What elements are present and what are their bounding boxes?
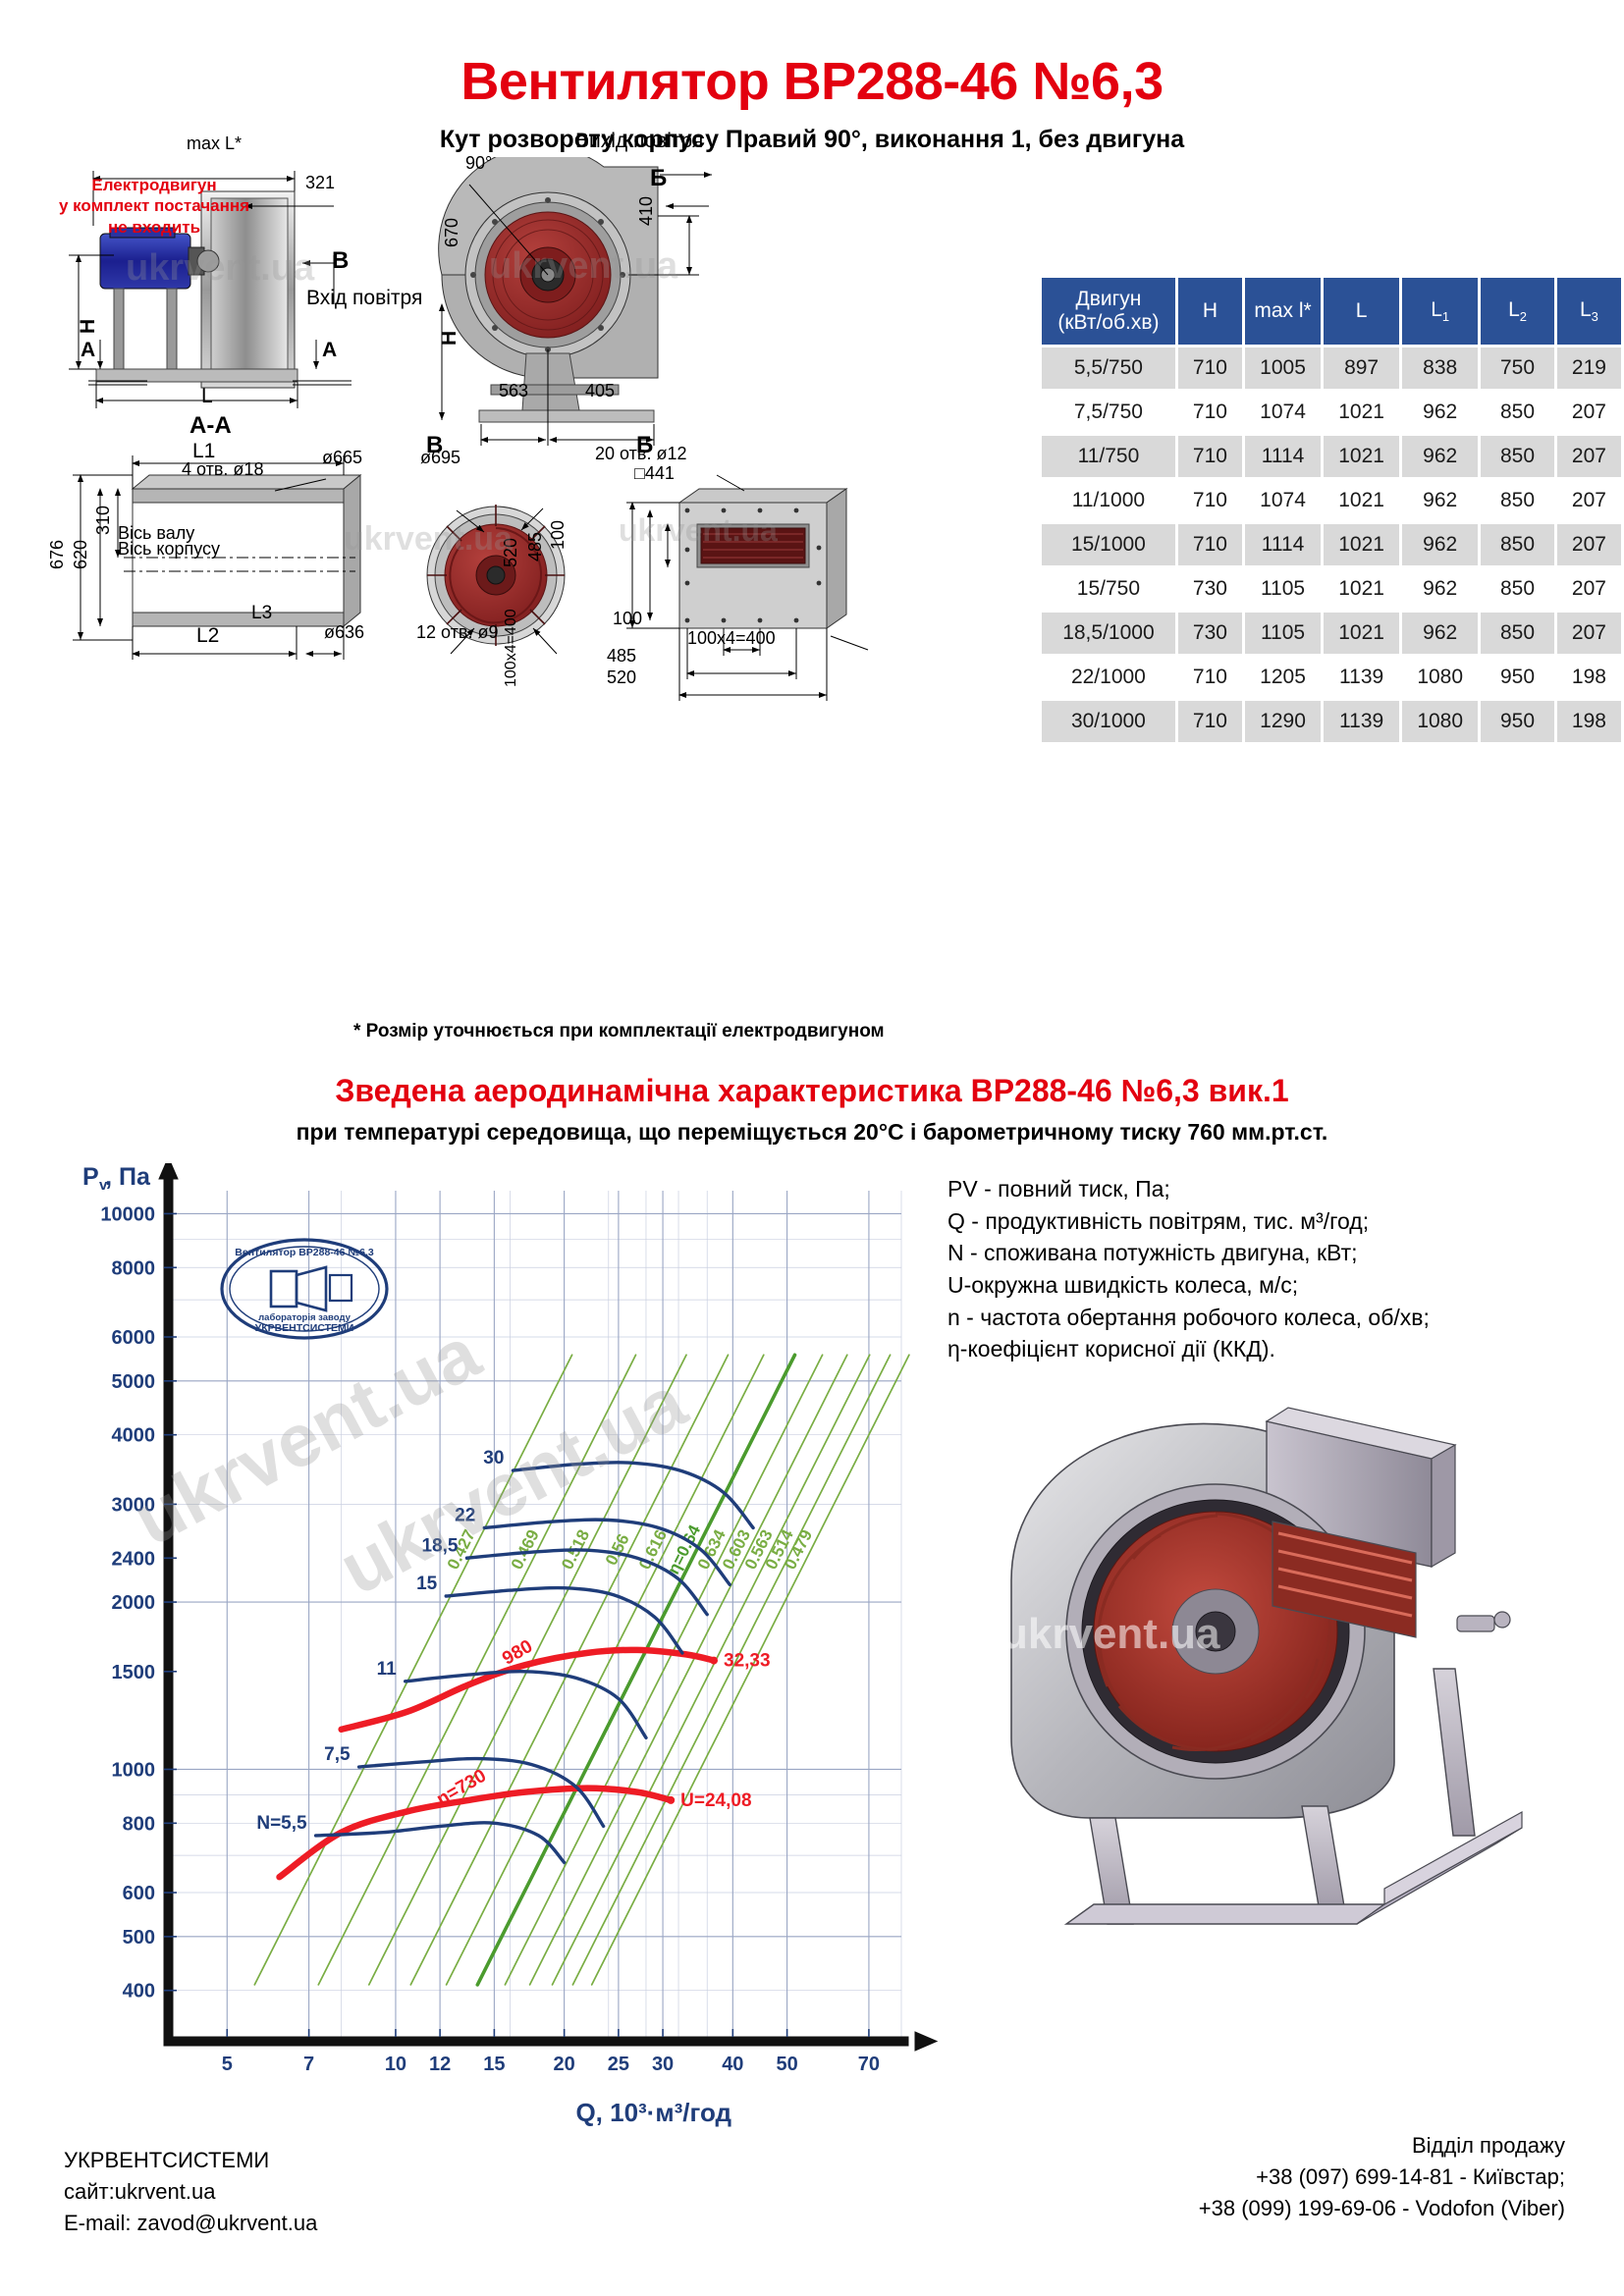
table-row: 18,5/100073011051021962850207 bbox=[1042, 613, 1621, 654]
dim-520-h: 520 bbox=[607, 667, 636, 688]
svg-text:10000: 10000 bbox=[100, 1203, 155, 1225]
svg-text:УКРВЕНТСИСТЕМИ: УКРВЕНТСИСТЕМИ bbox=[255, 1322, 354, 1334]
svg-text:70: 70 bbox=[858, 2054, 880, 2075]
page-title: Вентилятор ВР288-46 №6,3 bbox=[0, 51, 1624, 112]
dim-L2: L2 bbox=[196, 624, 219, 648]
cell-motor: 5,5/750 bbox=[1042, 347, 1175, 389]
svg-text:7,5: 7,5 bbox=[324, 1744, 351, 1765]
table-row: 15/75073011051021962850207 bbox=[1042, 568, 1621, 610]
cell-motor: 7,5/750 bbox=[1042, 392, 1175, 433]
svg-text:15: 15 bbox=[416, 1574, 438, 1594]
footer-right: Відділ продажу +38 (097) 699-14-81 - Киї… bbox=[1199, 2130, 1565, 2224]
dim-563: 563 bbox=[499, 381, 528, 401]
technical-drawings bbox=[39, 157, 1031, 707]
svg-text:8000: 8000 bbox=[112, 1257, 156, 1279]
view-b-label: В bbox=[332, 247, 349, 275]
svg-text:P , Па: P , Па bbox=[82, 1163, 151, 1191]
svg-text:500: 500 bbox=[123, 1927, 155, 1949]
svg-text:22: 22 bbox=[455, 1505, 475, 1525]
dim-100-v: 100 bbox=[548, 520, 568, 550]
dim-665: ø665 bbox=[322, 448, 362, 468]
cell-motor: 11/750 bbox=[1042, 436, 1175, 477]
dim-670: 670 bbox=[442, 218, 462, 247]
svg-text:12: 12 bbox=[429, 2054, 451, 2075]
legend-item-q: Q - продуктивність повітрям, тис. м³/год… bbox=[947, 1205, 1430, 1238]
dim-620: 620 bbox=[71, 540, 91, 569]
dim-695: ø695 bbox=[420, 448, 460, 468]
cell-motor: 11/1000 bbox=[1042, 480, 1175, 521]
svg-text:30: 30 bbox=[483, 1448, 504, 1468]
table-body: 5,5/7507101005897838750219 7,5/750710107… bbox=[1042, 347, 1621, 742]
table-row: 11/100071010741021962850207 bbox=[1042, 480, 1621, 521]
dim-485-v: 485 bbox=[525, 532, 546, 561]
svg-text:40: 40 bbox=[722, 2054, 743, 2075]
drawing-footnote: * Розмір уточнюється при комплектації ел… bbox=[353, 1021, 885, 1042]
svg-text:50: 50 bbox=[776, 2054, 797, 2075]
dim-A-left: A bbox=[81, 339, 95, 362]
svg-text:20: 20 bbox=[554, 2054, 575, 2075]
svg-text:2400: 2400 bbox=[112, 1548, 156, 1570]
legend-item-speed: n - частота обертання робочого колеса, о… bbox=[947, 1302, 1430, 1334]
aerodynamic-chart: 0.4270.4690.5180.560.616η=0.640.6340.603… bbox=[57, 1163, 941, 2145]
th-motor: Двигун (кВт/об.хв) bbox=[1042, 278, 1175, 345]
phone-vodafone: +38 (099) 199-69-06 - Vodofon (Viber) bbox=[1199, 2193, 1565, 2224]
phone-kyivstar: +38 (097) 699-14-81 - Київстар; bbox=[1199, 2162, 1565, 2193]
svg-text:11: 11 bbox=[377, 1659, 398, 1680]
legend-item-u: U-окружна швидкість колеса, м/с; bbox=[947, 1269, 1430, 1302]
legend-item-n: N - споживана потужність двигуна, кВт; bbox=[947, 1237, 1430, 1269]
svg-text:1000: 1000 bbox=[112, 1759, 156, 1781]
dim-100-h: 100 bbox=[613, 609, 642, 629]
svg-text:5000: 5000 bbox=[112, 1371, 156, 1393]
th-L2: L2 bbox=[1481, 278, 1554, 345]
dim-410: 410 bbox=[636, 196, 657, 226]
chart-legend: PV - повний тиск, Па; Q - продуктивність… bbox=[947, 1173, 1430, 1365]
table-header-row: Двигун (кВт/об.хв) H max l* L L1 L2 L3 bbox=[1042, 278, 1621, 345]
svg-text:Вентилятор ВР288-46 №6,3: Вентилятор ВР288-46 №6,3 bbox=[235, 1247, 374, 1258]
website: сайт:ukrvent.ua bbox=[64, 2176, 317, 2208]
table-row: 15/100071011141021962850207 bbox=[1042, 524, 1621, 565]
dim-max-l: max L* bbox=[187, 133, 242, 154]
svg-text:4000: 4000 bbox=[112, 1425, 156, 1447]
fan-3d-illustration bbox=[972, 1374, 1581, 1983]
spec-table: Двигун (кВт/об.хв) H max l* L L1 L2 L3 5… bbox=[1039, 275, 1624, 745]
svg-text:30: 30 bbox=[652, 2054, 674, 2075]
cell-motor: 18,5/1000 bbox=[1042, 613, 1175, 654]
th-L3: L3 bbox=[1557, 278, 1621, 345]
dim-A-right: A bbox=[322, 339, 337, 362]
svg-text:18,5: 18,5 bbox=[421, 1535, 458, 1556]
svg-text:5: 5 bbox=[222, 2054, 233, 2075]
svg-text:32,33: 32,33 bbox=[724, 1651, 771, 1672]
holes-4-label: 4 отв. ø18 bbox=[182, 459, 263, 480]
svg-text:600: 600 bbox=[123, 1883, 155, 1904]
angle-90-label: 90° bbox=[465, 153, 492, 174]
page-subtitle: Кут розвороту корпусу Правий 90°, викона… bbox=[0, 126, 1624, 154]
table-row: 11/75071011141021962850207 bbox=[1042, 436, 1621, 477]
sales-title: Відділ продажу bbox=[1199, 2130, 1565, 2162]
th-H: H bbox=[1178, 278, 1242, 345]
th-L1: L1 bbox=[1402, 278, 1478, 345]
svg-text:3000: 3000 bbox=[112, 1494, 156, 1516]
cell-motor: 22/1000 bbox=[1042, 657, 1175, 698]
table-row: 5,5/7507101005897838750219 bbox=[1042, 347, 1621, 389]
dim-H-front: H bbox=[77, 319, 100, 334]
dim-441: □441 bbox=[634, 463, 675, 484]
inlet-label: Вхід повітря bbox=[306, 287, 422, 310]
dim-L3: L3 bbox=[251, 603, 272, 624]
section-aa-label: А-А bbox=[189, 412, 232, 440]
svg-text:800: 800 bbox=[123, 1813, 155, 1835]
dim-520-v: 520 bbox=[501, 538, 521, 567]
svg-text:Q, 10³·м³/год: Q, 10³·м³/год bbox=[575, 2098, 731, 2127]
svg-text:v: v bbox=[99, 1177, 108, 1194]
svg-text:10: 10 bbox=[385, 2054, 406, 2075]
dim-H-side: H bbox=[438, 331, 461, 346]
holes-12-label: 12 отв. ø9 bbox=[416, 622, 498, 643]
th-L: L bbox=[1324, 278, 1399, 345]
footer-left: УКРВЕНТСИСТЕМИ сайт:ukrvent.ua E-mail: z… bbox=[64, 2145, 317, 2239]
chart-subtitle: при температурі середовища, що переміщує… bbox=[0, 1119, 1624, 1146]
svg-text:U=24,08: U=24,08 bbox=[680, 1790, 751, 1811]
dim-636: ø636 bbox=[324, 622, 364, 643]
cell-motor: 15/1000 bbox=[1042, 524, 1175, 565]
svg-text:25: 25 bbox=[608, 2054, 629, 2075]
table-row: 7,5/75071010741021962850207 bbox=[1042, 392, 1621, 433]
view-bb-label: Б bbox=[650, 165, 667, 192]
svg-text:1500: 1500 bbox=[112, 1662, 156, 1683]
dim-321: 321 bbox=[305, 173, 335, 193]
dim-L-front: L bbox=[201, 385, 213, 408]
dim-100x4-h: 100x4=400 bbox=[687, 628, 776, 649]
body-axis-label: Вісь корпусу bbox=[118, 539, 220, 560]
dim-310: 310 bbox=[93, 506, 114, 535]
email: E-mail: zavod@ukrvent.ua bbox=[64, 2208, 317, 2239]
legend-item-pv: PV - повний тиск, Па; bbox=[947, 1173, 1430, 1205]
svg-text:N=5,5: N=5,5 bbox=[256, 1813, 307, 1834]
chart-title: Зведена аеродинамічна характеристика ВР2… bbox=[0, 1073, 1624, 1109]
datasheet-page: Вентилятор ВР288-46 №6,3 Кут розвороту к… bbox=[0, 0, 1624, 2296]
svg-text:6000: 6000 bbox=[112, 1327, 156, 1349]
cell-motor: 15/750 bbox=[1042, 568, 1175, 610]
dim-100x4-v: 100х4=400 bbox=[503, 609, 520, 687]
cell-motor: 30/1000 bbox=[1042, 701, 1175, 742]
table-row: 22/1000710120511391080950198 bbox=[1042, 657, 1621, 698]
svg-text:7: 7 bbox=[303, 2054, 314, 2075]
dim-485-h: 485 bbox=[607, 646, 636, 667]
outlet-label: Вихід повітря bbox=[575, 130, 703, 153]
dim-676: 676 bbox=[47, 540, 68, 569]
dim-405: 405 bbox=[585, 381, 615, 401]
svg-text:400: 400 bbox=[123, 1981, 155, 2002]
svg-text:2000: 2000 bbox=[112, 1592, 156, 1614]
th-maxl: max l* bbox=[1245, 278, 1321, 345]
legend-item-eta: η-коефіцієнт корисної дії (ККД). bbox=[947, 1333, 1430, 1365]
holes-20-label: 20 отв. ø12 bbox=[595, 444, 686, 464]
motor-note-label: Електродвигун у комплект постачання не в… bbox=[51, 175, 257, 238]
table-row: 30/1000710129011391080950198 bbox=[1042, 701, 1621, 742]
company-name: УКРВЕНТСИСТЕМИ bbox=[64, 2145, 317, 2176]
svg-text:15: 15 bbox=[483, 2054, 505, 2075]
